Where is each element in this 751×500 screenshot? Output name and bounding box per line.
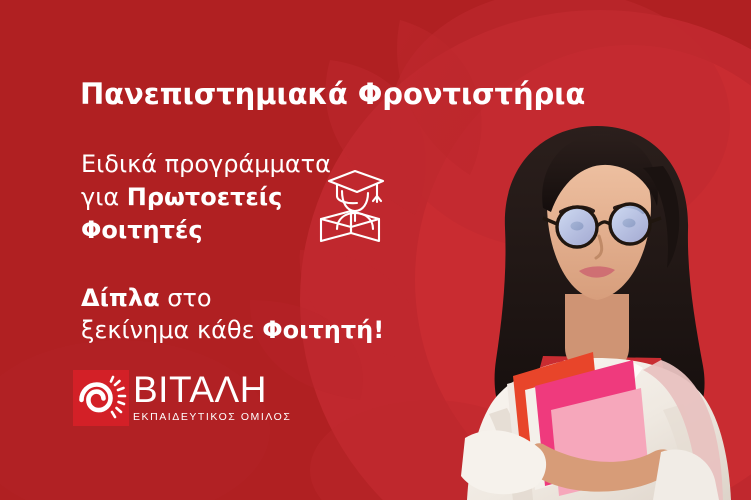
tagline-line-1-regular: στο	[160, 284, 212, 312]
tagline-line-1: Δίπλα στο	[81, 282, 384, 314]
subheading-line-3: Φοιτητές	[81, 214, 331, 247]
subheading-line-1: Ειδικά προγράμματα	[81, 148, 331, 181]
tagline-line-2-regular: ξεκίνημα κάθε	[81, 316, 262, 344]
spiral-sun-icon-svg	[73, 370, 129, 426]
page-title: Πανεπιστημιακά Φροντιστήρια	[80, 78, 585, 110]
graduate-with-book-icon	[313, 163, 393, 245]
promo-banner: Πανεπιστημιακά Φροντιστήρια Ειδικά προγρ…	[0, 0, 751, 500]
tagline: Δίπλα στο ξεκίνημα κάθε Φοιτητή!	[81, 282, 384, 347]
subheading-line-2: για Πρωτοετείς	[81, 181, 331, 214]
logo-text-block: ΒΙΤΑΛΗ ΕΚΠΑΙΔΕΥΤΙΚΟΣ ΟΜΙΛΟΣ	[133, 370, 291, 426]
graduate-icon-svg	[313, 163, 393, 245]
tagline-line-1-bold: Δίπλα	[81, 284, 160, 312]
tagline-line-2-bold: Φοιτητή!	[262, 316, 384, 344]
subheading-line-2-regular: για	[81, 183, 127, 211]
subheading-line-3-bold: Φοιτητές	[81, 216, 203, 244]
tagline-line-2: ξεκίνημα κάθε Φοιτητή!	[81, 314, 384, 346]
logo-tagline: ΕΚΠΑΙΔΕΥΤΙΚΟΣ ΟΜΙΛΟΣ	[133, 411, 291, 423]
subheading-line-2-bold: Πρωτοετείς	[127, 183, 283, 211]
spiral-sun-icon	[73, 370, 129, 426]
logo-name: ΒΙΤΑΛΗ	[133, 373, 291, 408]
subheading: Ειδικά προγράμματα για Πρωτοετείς Φοιτητ…	[81, 148, 331, 247]
brand-logo[interactable]: ΒΙΤΑΛΗ ΕΚΠΑΙΔΕΥΤΙΚΟΣ ΟΜΙΛΟΣ	[73, 370, 291, 426]
